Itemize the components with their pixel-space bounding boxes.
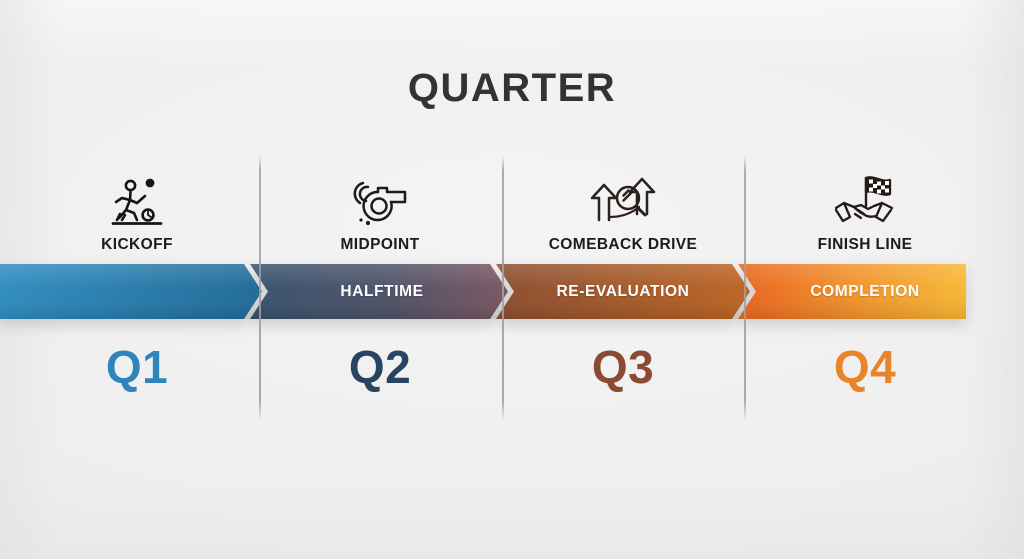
column-head-q2: MIDPOINT — [260, 172, 500, 254]
band-label-q4: COMPLETION — [745, 280, 985, 304]
quarter-label-q4: Q4 — [745, 340, 985, 394]
band-label-q3: RE-EVALUATION — [503, 280, 743, 304]
column-head-q1: KICKOFF — [17, 172, 257, 254]
stage-label-q4: FINISH LINE — [745, 236, 985, 254]
band-label-q2: HALFTIME — [262, 280, 502, 304]
quarter-label-q1: Q1 — [17, 340, 257, 394]
stage-label-q2: MIDPOINT — [260, 236, 500, 254]
page-title: QUARTER — [0, 66, 1024, 111]
column-head-q4: FINISH LINE — [745, 172, 985, 254]
quarter-label-q2: Q2 — [260, 340, 500, 394]
divider-3 — [744, 155, 746, 421]
divider-2 — [502, 155, 504, 421]
whistle-icon — [260, 172, 500, 230]
stage-label-q3: COMEBACK DRIVE — [503, 236, 743, 254]
soccer-kickoff-icon — [17, 172, 257, 230]
quarter-label-q3: Q3 — [503, 340, 743, 394]
column-head-q3: COMEBACK DRIVE — [503, 172, 743, 254]
infographic-canvas: QUARTER — [0, 0, 1024, 559]
stage-label-q1: KICKOFF — [17, 236, 257, 254]
growth-arrows-magnifier-icon — [503, 172, 743, 230]
handshake-checkered-flag-icon — [745, 172, 985, 230]
divider-1 — [259, 155, 261, 421]
